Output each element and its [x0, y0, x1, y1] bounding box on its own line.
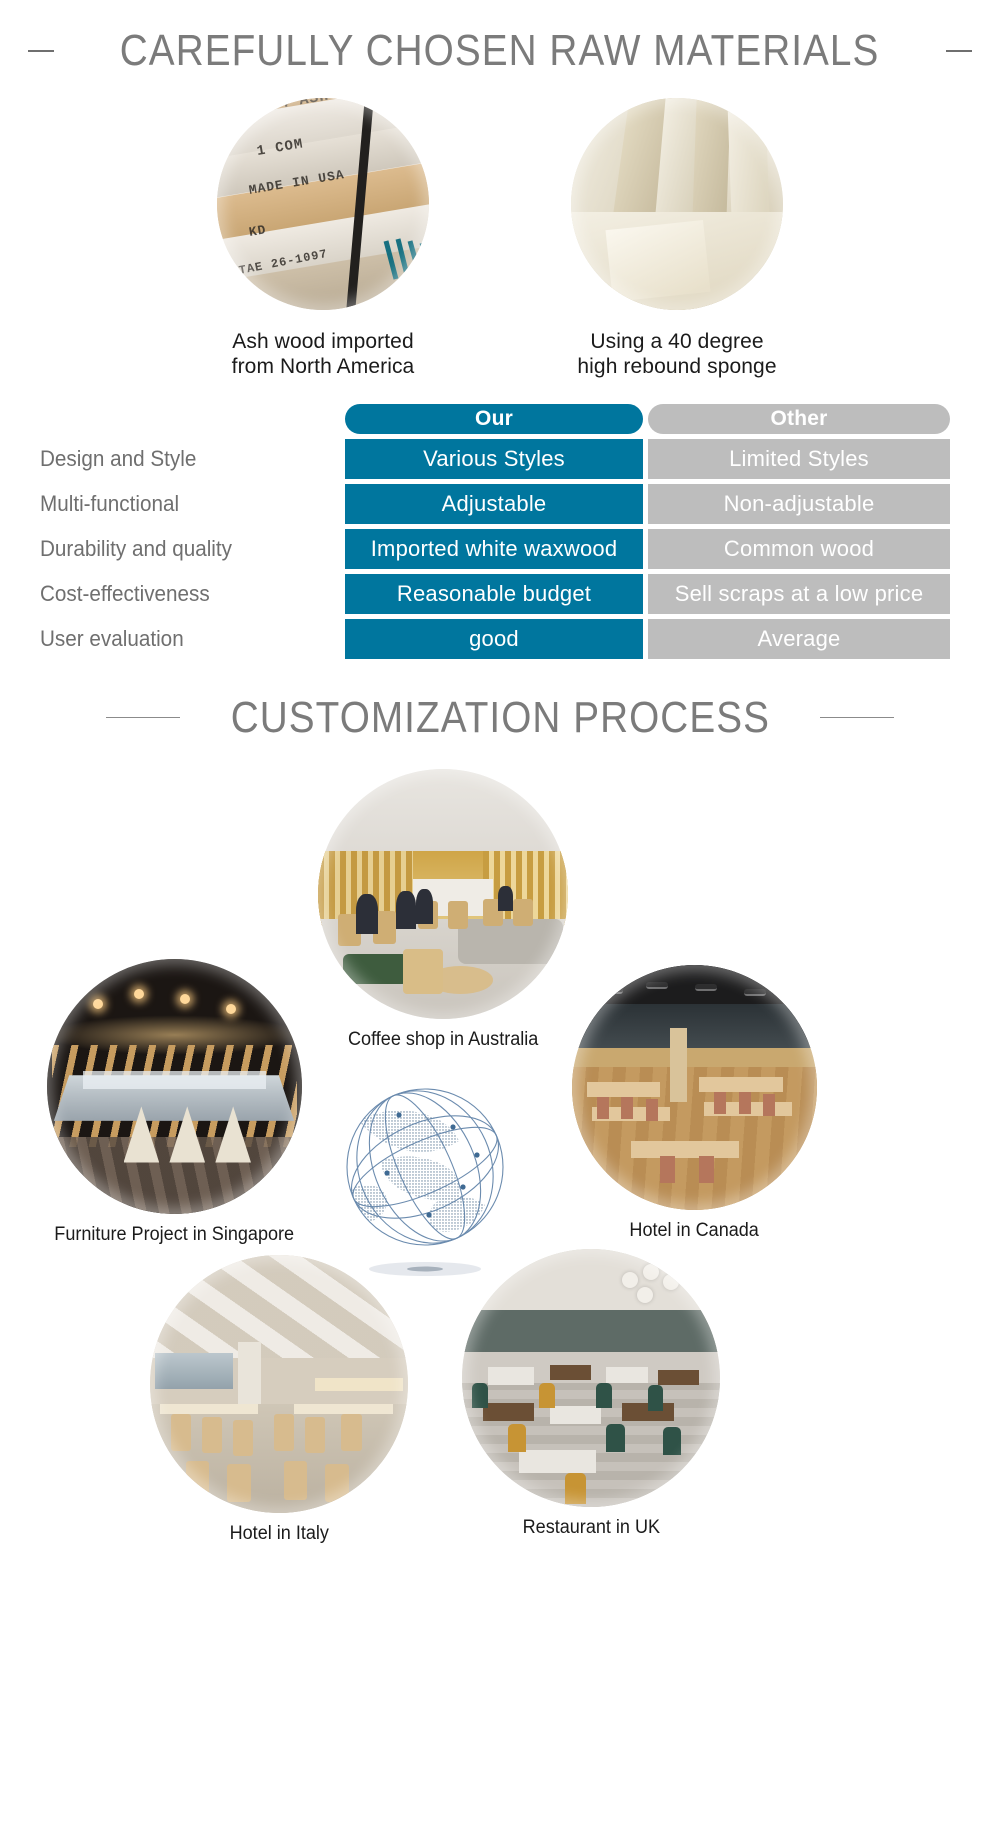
teal-logo-mark — [382, 237, 429, 283]
ash-lumber-photo: 8/4 ASH 1 COM MADE IN USA KD TAE 26-1097 — [217, 98, 429, 310]
process-gallery: Coffee shop in Australia Furniture Proje… — [0, 769, 1000, 1649]
material-card-ash-wood: 8/4 ASH 1 COM MADE IN USA KD TAE 26-1097… — [199, 98, 447, 380]
gallery-item: Coffee shop in Australia — [318, 769, 568, 1051]
heading-dash-left — [28, 50, 54, 52]
row-value-other: Average — [648, 619, 950, 659]
row-value-other: Non-adjustable — [648, 484, 950, 524]
comparison-table: Our Other Design and Style Various Style… — [0, 404, 1000, 659]
row-value-our: good — [345, 619, 643, 659]
gallery-caption: Hotel in Italy — [229, 1523, 328, 1545]
row-label: Cost-effectiveness — [40, 574, 322, 614]
material-card-sponge: Using a 40 degree high rebound sponge — [553, 98, 801, 380]
process-section-heading: CUSTOMIZATION PROCESS — [0, 693, 1000, 743]
gallery-caption: Furniture Project in Singapore — [55, 1224, 295, 1246]
row-value-other: Sell scraps at a low price — [648, 574, 950, 614]
row-label: Design and Style — [40, 439, 322, 479]
restaurant-uk-photo — [462, 1249, 720, 1507]
comparison-header-spacer — [40, 404, 340, 434]
row-value-our: Various Styles — [345, 439, 643, 479]
wireframe-globe-icon — [325, 1069, 525, 1284]
row-value-our: Reasonable budget — [345, 574, 643, 614]
caption-line-1: Using a 40 degree — [590, 330, 763, 353]
gallery-item: Furniture Project in Singapore — [47, 959, 302, 1246]
section-title: CUSTOMIZATION PROCESS — [230, 693, 769, 743]
column-header-other: Other — [648, 404, 950, 434]
material-caption: Ash wood imported from North America — [232, 330, 415, 380]
comparison-grid: Our Other Design and Style Various Style… — [20, 404, 980, 659]
gallery-caption: Coffee shop in Australia — [348, 1029, 538, 1051]
heading-rule-left — [106, 717, 180, 718]
row-label: User evaluation — [40, 619, 322, 659]
materials-section-heading: CAREFULLY CHOSEN RAW MATERIALS — [0, 26, 1000, 76]
furniture-project-singapore-photo — [47, 959, 302, 1214]
gallery-caption: Restaurant in UK — [522, 1517, 659, 1539]
gallery-item: Restaurant in UK — [462, 1249, 720, 1539]
gallery-item: Hotel in Italy — [150, 1255, 408, 1545]
row-value-our: Adjustable — [345, 484, 643, 524]
coffee-shop-australia-photo — [318, 769, 568, 1019]
hotel-italy-photo — [150, 1255, 408, 1513]
gallery-item: Hotel in Canada — [572, 965, 817, 1242]
caption-line-2: from North America — [232, 355, 415, 378]
row-label: Durability and quality — [40, 529, 322, 569]
page-title: CAREFULLY CHOSEN RAW MATERIALS — [120, 26, 880, 76]
material-caption: Using a 40 degree high rebound sponge — [577, 330, 776, 380]
caption-line-2: high rebound sponge — [577, 355, 776, 378]
foam-sponge-photo — [571, 98, 783, 310]
heading-rule-right — [820, 717, 894, 718]
materials-card-row: 8/4 ASH 1 COM MADE IN USA KD TAE 26-1097… — [0, 98, 1000, 380]
row-label: Multi-functional — [40, 484, 322, 524]
gallery-caption: Hotel in Canada — [630, 1220, 759, 1242]
row-value-other: Limited Styles — [648, 439, 950, 479]
row-value-our: Imported white waxwood — [345, 529, 643, 569]
row-value-other: Common wood — [648, 529, 950, 569]
caption-line-1: Ash wood imported — [232, 330, 413, 353]
hotel-canada-photo — [572, 965, 817, 1210]
column-header-our: Our — [345, 404, 643, 434]
heading-dash-right — [946, 50, 972, 52]
